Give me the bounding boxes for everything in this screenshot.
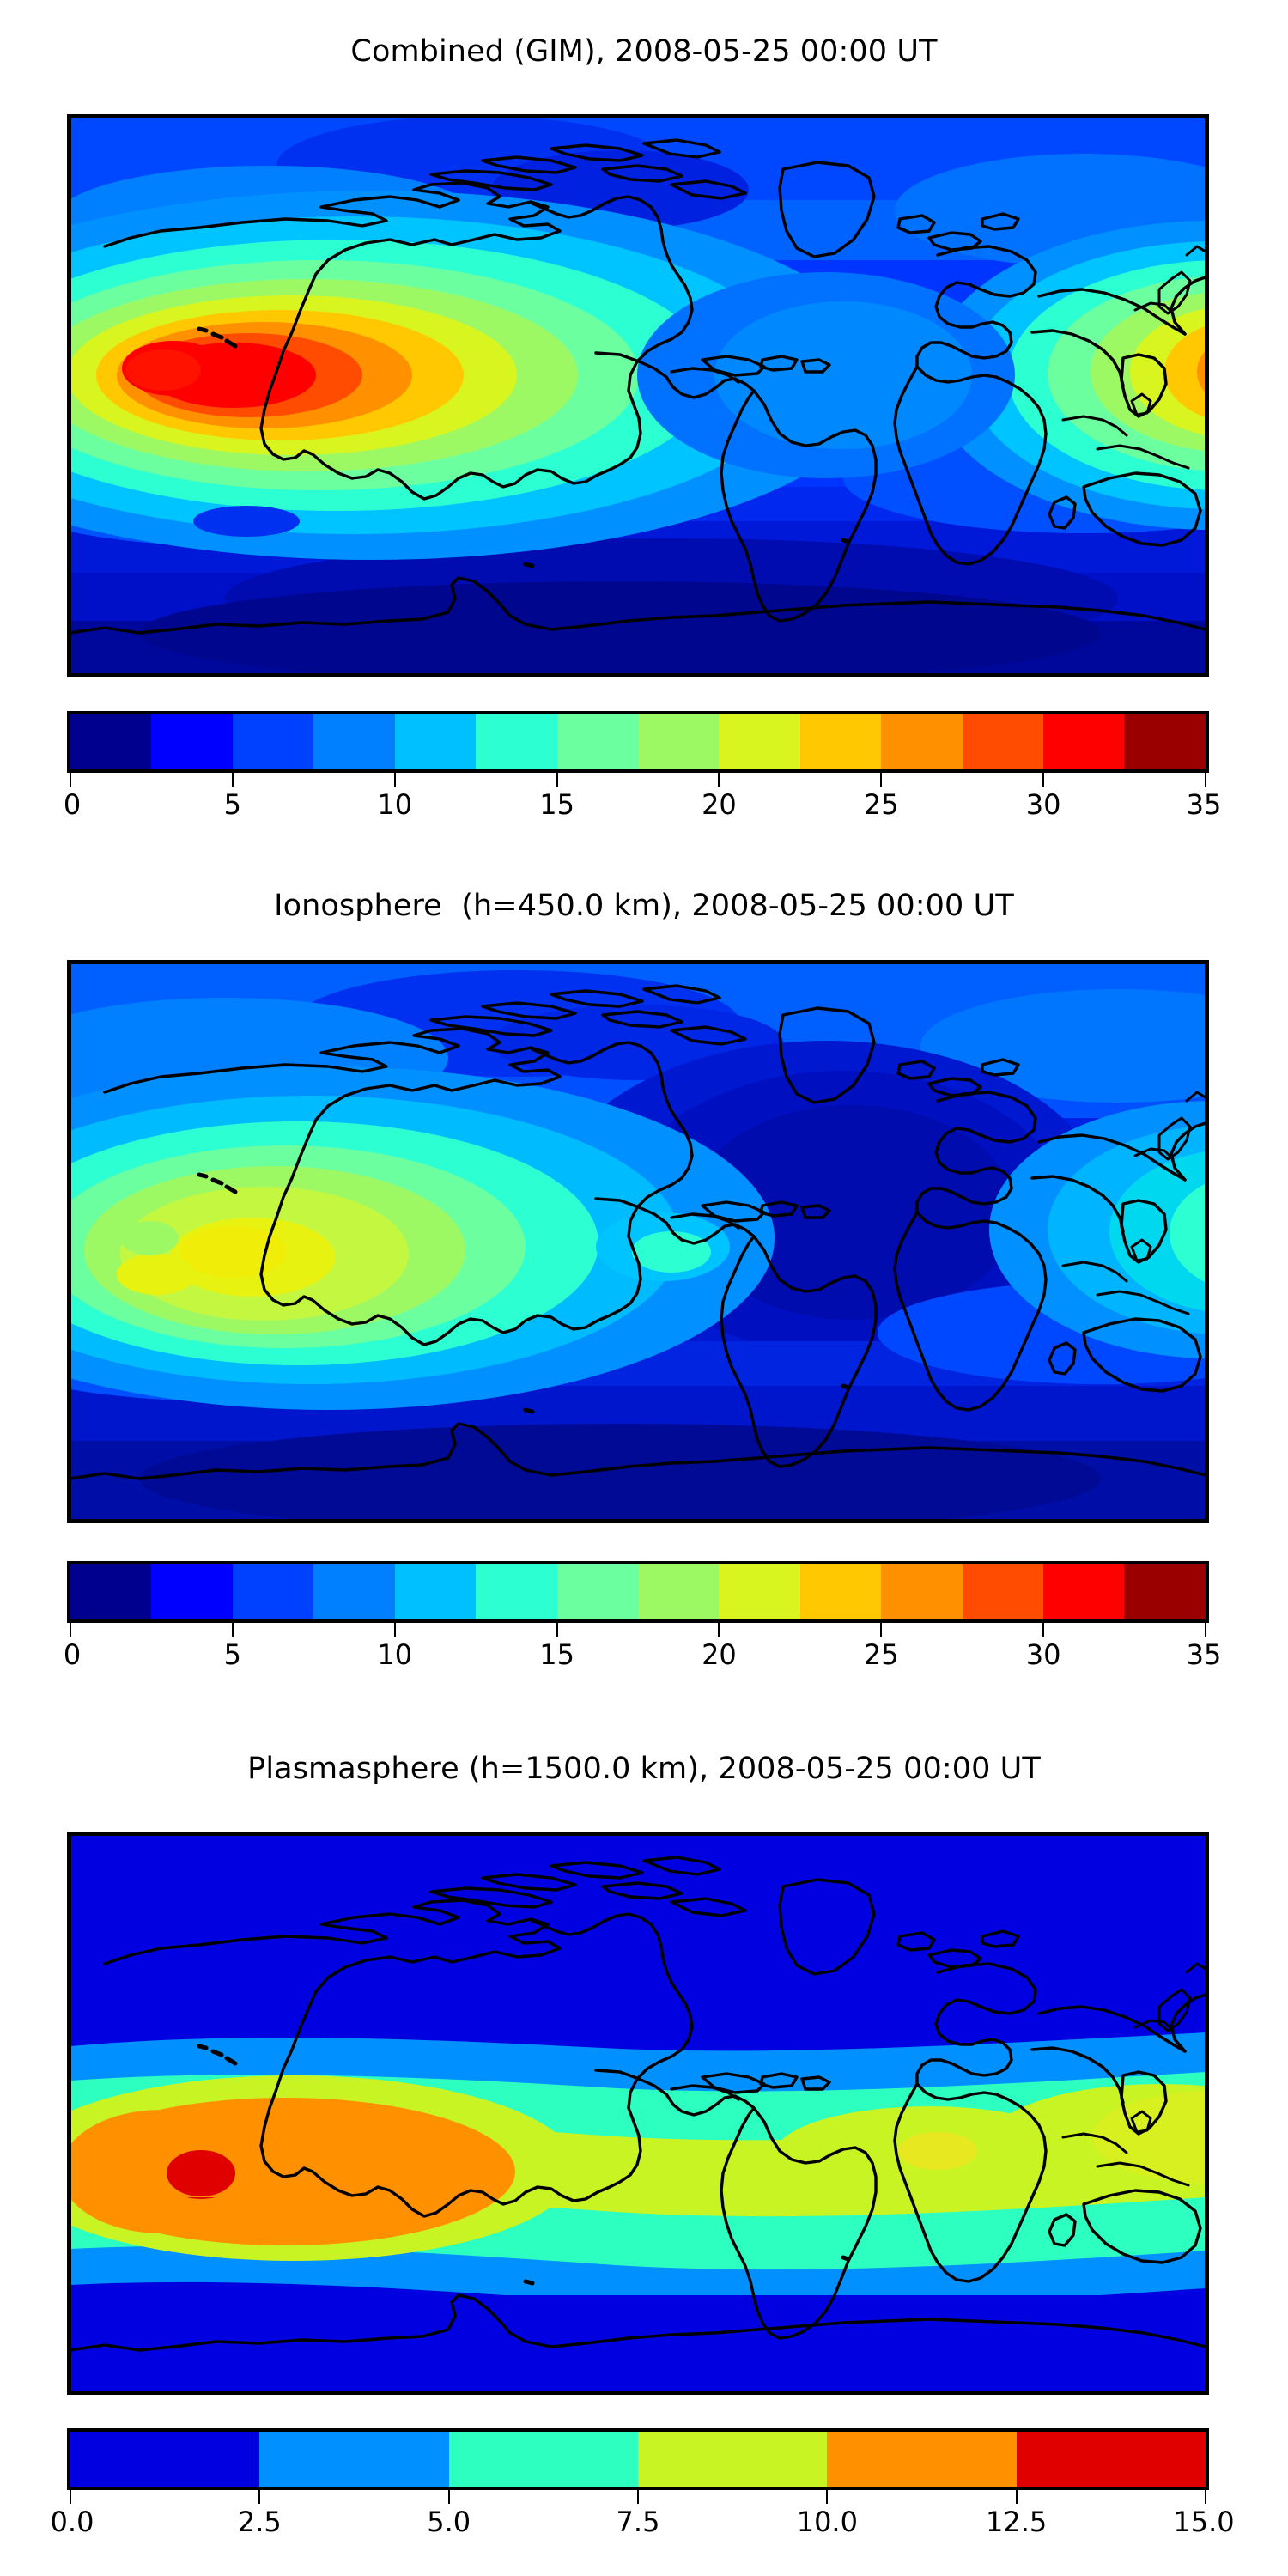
colorbar-band-11 <box>963 714 1043 769</box>
colorbar-tick-label: 15 <box>539 1638 574 1671</box>
panel-plasmasphere-1500: Plasmasphere (h=1500.0 km), 2008-05-25 0… <box>0 1717 1288 2576</box>
colorbar-band-12 <box>1043 1564 1124 1619</box>
colorbar-plasmasphere: 0.02.55.07.510.012.515.0 <box>67 2428 1209 2531</box>
colorbar-tick-label: 15 <box>539 788 574 821</box>
colorbar-band-7 <box>638 714 719 769</box>
colorbar-band-6 <box>557 714 638 769</box>
colorbar-gradient-combined <box>67 711 1209 773</box>
colorbar-band-7 <box>638 1564 719 1619</box>
colorbar-tick-label: 10 <box>377 1638 412 1671</box>
colorbar-band-2 <box>233 1564 313 1619</box>
colorbar-band-12 <box>1043 714 1124 769</box>
colorbar-band-9 <box>800 714 881 769</box>
colorbar-band-6 <box>557 1564 638 1619</box>
colorbar-band-3 <box>313 714 394 769</box>
colorbar-band-4 <box>827 2432 1016 2487</box>
panel-title-plasmasphere: Plasmasphere (h=1500.0 km), 2008-05-25 0… <box>0 1752 1288 1786</box>
colorbar-band-13 <box>1124 714 1205 769</box>
colorbar-band-10 <box>881 1564 962 1619</box>
colorbar-tick <box>718 1623 720 1637</box>
colorbar-tick <box>880 773 882 787</box>
colorbar-combined: 05101520253035 <box>67 711 1209 814</box>
colorbar-ionosphere: 05101520253035 <box>67 1561 1209 1664</box>
colorbar-band-5 <box>476 1564 556 1619</box>
colorbar-band-11 <box>963 1564 1043 1619</box>
colorbar-tick <box>394 1623 396 1637</box>
colorbar-band-1 <box>151 1564 232 1619</box>
colorbar-tick-label: 25 <box>864 788 899 821</box>
colorbar-tick-label: 30 <box>1026 1638 1061 1671</box>
colorbar-tick <box>637 2490 639 2504</box>
colorbar-band-5 <box>476 714 556 769</box>
colorbar-tick <box>1205 773 1206 787</box>
colorbar-tick <box>1205 1623 1206 1637</box>
map-combined-gim <box>67 114 1209 677</box>
colorbar-band-10 <box>881 714 962 769</box>
map-svg-plasmasphere <box>70 1835 1206 2391</box>
map-ionosphere-450 <box>67 960 1209 1523</box>
colorbar-tick-label: 25 <box>864 1638 899 1671</box>
colorbar-tick <box>70 2490 71 2504</box>
colorbar-tick <box>1042 773 1044 787</box>
colorbar-tick-label: 0 <box>64 788 81 821</box>
colorbar-tick <box>1205 2490 1206 2504</box>
colorbar-band-0 <box>70 714 151 769</box>
figure-canvas: Combined (GIM), 2008-05-25 00:00 UT <box>0 0 1288 2576</box>
colorbar-tick <box>448 2490 450 2504</box>
colorbar-ticks-ionosphere: 05101520253035 <box>67 1623 1209 1674</box>
colorbar-tick-label: 2.5 <box>238 2506 282 2538</box>
colorbar-tick-label: 12.5 <box>986 2506 1047 2538</box>
colorbar-band-2 <box>449 2432 638 2487</box>
colorbar-tick <box>556 773 558 787</box>
colorbar-band-4 <box>395 1564 476 1619</box>
colorbar-band-3 <box>638 2432 827 2487</box>
colorbar-band-1 <box>259 2432 448 2487</box>
panel-ionosphere-450: Ionosphere (h=450.0 km), 2008-05-25 00:0… <box>0 859 1288 1717</box>
colorbar-tick-label: 35 <box>1187 788 1222 821</box>
colorbar-tick <box>556 1623 558 1637</box>
colorbar-tick <box>394 773 396 787</box>
colorbar-band-9 <box>800 1564 881 1619</box>
colorbar-band-8 <box>719 714 799 769</box>
colorbar-tick-label: 35 <box>1187 1638 1222 1671</box>
colorbar-tick <box>1016 2490 1018 2504</box>
colorbar-band-2 <box>233 714 313 769</box>
colorbar-tick-label: 5.0 <box>427 2506 471 2538</box>
panel-title-combined: Combined (GIM), 2008-05-25 00:00 UT <box>0 34 1288 69</box>
colorbar-gradient-plasmasphere <box>67 2428 1209 2490</box>
colorbar-band-4 <box>395 714 476 769</box>
map-svg-ionosphere <box>70 963 1206 1520</box>
colorbar-tick <box>1042 1623 1044 1637</box>
colorbar-band-0 <box>70 1564 151 1619</box>
colorbar-band-8 <box>719 1564 799 1619</box>
colorbar-tick <box>258 2490 260 2504</box>
map-plasmasphere-1500 <box>67 1832 1209 2395</box>
colorbar-tick-label: 5 <box>224 1638 241 1671</box>
colorbar-ticks-plasmasphere: 0.02.55.07.510.012.515.0 <box>67 2490 1209 2542</box>
map-svg-combined <box>70 118 1206 674</box>
colorbar-tick-label: 7.5 <box>617 2506 660 2538</box>
colorbar-gradient-ionosphere <box>67 1561 1209 1623</box>
colorbar-tick <box>232 773 234 787</box>
colorbar-tick <box>70 1623 71 1637</box>
colorbar-band-3 <box>313 1564 394 1619</box>
colorbar-band-5 <box>1017 2432 1206 2487</box>
colorbar-tick-label: 20 <box>702 788 737 821</box>
colorbar-tick-label: 15.0 <box>1173 2506 1234 2538</box>
colorbar-tick-label: 10.0 <box>797 2506 858 2538</box>
panel-combined-gim: Combined (GIM), 2008-05-25 00:00 UT <box>0 0 1288 859</box>
colorbar-ticks-combined: 05101520253035 <box>67 773 1209 824</box>
colorbar-tick-label: 10 <box>377 788 412 821</box>
panel-title-ionosphere: Ionosphere (h=450.0 km), 2008-05-25 00:0… <box>0 889 1288 923</box>
colorbar-band-0 <box>70 2432 259 2487</box>
colorbar-tick-label: 0 <box>64 1638 81 1671</box>
colorbar-tick <box>232 1623 234 1637</box>
colorbar-tick-label: 20 <box>702 1638 737 1671</box>
colorbar-tick <box>880 1623 882 1637</box>
colorbar-tick <box>70 773 71 787</box>
colorbar-tick-label: 30 <box>1026 788 1061 821</box>
colorbar-tick-label: 5 <box>224 788 241 821</box>
colorbar-band-13 <box>1124 1564 1205 1619</box>
colorbar-tick-label: 0.0 <box>51 2506 94 2538</box>
colorbar-tick <box>826 2490 828 2504</box>
colorbar-tick <box>718 773 720 787</box>
colorbar-band-1 <box>151 714 232 769</box>
